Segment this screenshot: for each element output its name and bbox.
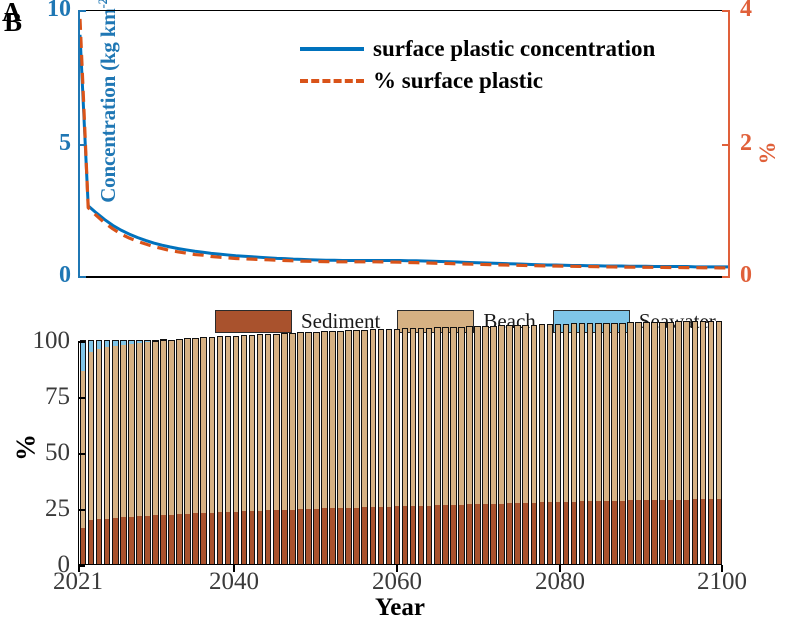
bar-segment-beach <box>386 329 393 507</box>
panel-b-yticklabel-75: 75 <box>8 383 70 411</box>
stacked-bar <box>659 340 666 564</box>
legend-line-solid-icon <box>300 47 364 51</box>
bar-segment-sediment <box>635 500 642 564</box>
bar-segment-sediment <box>297 509 304 564</box>
stacked-bars-container <box>79 341 721 564</box>
stacked-bar <box>386 340 393 564</box>
bar-segment-seawater <box>128 340 135 344</box>
stacked-bar <box>120 340 127 564</box>
bar-segment-beach <box>361 330 368 508</box>
bar-segment-sediment <box>643 500 650 564</box>
stacked-bar <box>611 340 618 564</box>
stacked-bar <box>522 340 529 564</box>
bar-segment-beach <box>700 321 707 499</box>
bar-segment-beach <box>370 329 377 507</box>
bar-segment-beach <box>184 338 191 513</box>
bar-segment-sediment <box>152 515 159 564</box>
bar-segment-beach <box>708 321 715 499</box>
stacked-bar <box>474 340 481 564</box>
stacked-bar <box>184 340 191 564</box>
stacked-bar <box>434 340 441 564</box>
bar-segment-sediment <box>410 506 417 564</box>
stacked-bar <box>96 340 103 564</box>
bar-segment-sediment <box>651 500 658 564</box>
stacked-bar <box>378 340 385 564</box>
stacked-bar <box>418 340 425 564</box>
stacked-bar <box>233 340 240 564</box>
stacked-bar <box>450 340 457 564</box>
bar-segment-beach <box>273 334 280 511</box>
bar-segment-beach <box>482 326 489 504</box>
bar-segment-sediment <box>353 508 360 564</box>
bar-segment-sediment <box>192 513 199 564</box>
stacked-bar <box>587 340 594 564</box>
stacked-bar <box>571 340 578 564</box>
stacked-bar <box>353 340 360 564</box>
bar-segment-beach <box>514 325 521 503</box>
bar-segment-beach <box>522 325 529 503</box>
stacked-bar <box>716 340 723 564</box>
stacked-bar <box>136 340 143 564</box>
bar-segment-beach <box>675 321 682 499</box>
bar-segment-sediment <box>96 519 103 564</box>
bar-segment-beach <box>345 330 352 507</box>
bar-segment-sediment <box>329 508 336 564</box>
bar-segment-seawater <box>88 340 95 352</box>
stacked-bar <box>321 340 328 564</box>
bar-segment-sediment <box>466 504 473 564</box>
bar-segment-beach <box>378 329 385 507</box>
bar-segment-sediment <box>603 501 610 564</box>
stacked-bar <box>563 340 570 564</box>
bar-segment-beach <box>80 371 87 528</box>
bar-segment-beach <box>321 331 328 508</box>
stacked-bar <box>168 340 175 564</box>
stacked-bar <box>345 340 352 564</box>
stacked-bar <box>80 340 87 564</box>
bar-segment-seawater <box>144 340 151 342</box>
bar-segment-beach <box>563 324 570 502</box>
bar-segment-beach <box>450 327 457 505</box>
bar-segment-seawater <box>96 340 103 349</box>
stacked-bar <box>619 340 626 564</box>
bar-segment-beach <box>667 322 674 500</box>
bar-segment-beach <box>490 326 497 504</box>
bar-segment-sediment <box>257 511 264 564</box>
bar-segment-beach <box>659 322 666 500</box>
bar-segment-sediment <box>716 499 723 564</box>
bar-segment-sediment <box>667 500 674 564</box>
stacked-bar <box>305 340 312 564</box>
panel-a-legend: surface plastic concentration % surface … <box>300 33 655 97</box>
bar-segment-beach <box>144 342 151 516</box>
panel-b-ytick-50 <box>78 453 85 455</box>
stacked-bar <box>700 340 707 564</box>
bar-segment-beach <box>547 324 554 502</box>
stacked-bar <box>635 340 642 564</box>
bar-segment-sediment <box>209 513 216 564</box>
stacked-bar <box>217 340 224 564</box>
bar-segment-sediment <box>386 507 393 564</box>
bar-segment-beach <box>88 352 95 520</box>
bar-segment-sediment <box>611 501 618 564</box>
bar-segment-sediment <box>241 511 248 564</box>
stacked-bar <box>595 340 602 564</box>
stacked-bar <box>200 340 207 564</box>
bar-segment-sediment <box>233 512 240 564</box>
bar-segment-beach <box>305 332 312 509</box>
stacked-bar <box>442 340 449 564</box>
stacked-bar <box>555 340 562 564</box>
panel-b-label: B <box>4 7 22 38</box>
bar-segment-beach <box>587 323 594 501</box>
bar-segment-beach <box>635 322 642 500</box>
bar-segment-beach <box>571 323 578 501</box>
panel-b-yticklabel-25: 25 <box>8 495 70 523</box>
bar-segment-beach <box>531 325 538 503</box>
bar-segment-sediment <box>458 505 465 564</box>
bar-segment-beach <box>716 321 723 499</box>
stacked-bar <box>651 340 658 564</box>
bar-segment-sediment <box>128 517 135 564</box>
panel-b-ytick-100 <box>78 341 85 343</box>
panel-b-xticklabel-2021: 2021 <box>33 568 123 596</box>
stacked-bar <box>539 340 546 564</box>
stacked-bar <box>329 340 336 564</box>
bar-segment-beach <box>418 328 425 506</box>
bar-segment-sediment <box>426 506 433 564</box>
stacked-bar <box>675 340 682 564</box>
bar-segment-beach <box>643 322 650 500</box>
panel-a-ytick-10 <box>78 10 86 12</box>
stacked-bar <box>394 340 401 564</box>
bar-segment-beach <box>297 332 304 509</box>
bar-segment-beach <box>112 346 119 518</box>
bar-segment-beach <box>627 322 634 500</box>
bar-segment-sediment <box>514 503 521 564</box>
stacked-bar <box>257 340 264 564</box>
bar-segment-beach <box>209 337 216 513</box>
bar-segment-beach <box>136 343 143 516</box>
bar-segment-beach <box>160 340 167 515</box>
bar-segment-sediment <box>619 501 626 564</box>
stacked-bar <box>176 340 183 564</box>
panel-a-y2ticklabel-4: 4 <box>740 0 752 23</box>
stacked-bar <box>128 340 135 564</box>
stacked-bar <box>370 340 377 564</box>
bar-segment-beach <box>498 325 505 503</box>
stacked-bar <box>209 340 216 564</box>
bar-segment-seawater <box>160 339 167 340</box>
bar-segment-beach <box>506 325 513 503</box>
bar-segment-sediment <box>579 501 586 564</box>
bar-segment-beach <box>555 324 562 502</box>
panel-a-yticklabel-10: 10 <box>33 0 71 23</box>
stacked-bar <box>490 340 497 564</box>
bar-segment-sediment <box>176 514 183 564</box>
bar-segment-sediment <box>144 516 151 564</box>
stacked-bar <box>603 340 610 564</box>
bar-segment-beach <box>442 327 449 505</box>
bar-segment-sediment <box>337 508 344 564</box>
stacked-bar <box>289 340 296 564</box>
stacked-bar <box>547 340 554 564</box>
bar-segment-sediment <box>168 515 175 565</box>
panel-b-plot-area <box>78 341 722 565</box>
panel-a-right-axis-label: % <box>755 133 781 173</box>
bar-segment-sediment <box>225 512 232 564</box>
bar-segment-beach <box>410 328 417 506</box>
stacked-bar <box>361 340 368 564</box>
stacked-bar <box>144 340 151 564</box>
bar-segment-sediment <box>498 504 505 564</box>
bar-segment-sediment <box>345 508 352 564</box>
bar-segment-beach <box>152 341 159 515</box>
stacked-bar <box>627 340 634 564</box>
panel-a-y2tick-2 <box>722 144 730 146</box>
bar-segment-sediment <box>394 506 401 564</box>
bar-segment-sediment <box>683 500 690 565</box>
legend-item-percent: % surface plastic <box>300 65 655 97</box>
bar-segment-sediment <box>547 502 554 564</box>
bar-segment-sediment <box>506 503 513 564</box>
bar-segment-beach <box>458 327 465 505</box>
bar-segment-sediment <box>627 500 634 564</box>
bar-segment-beach <box>579 323 586 501</box>
bar-segment-seawater <box>120 340 127 345</box>
stacked-bar <box>249 340 256 564</box>
panel-b-xticklabel-2040: 2040 <box>189 568 279 596</box>
bar-segment-beach <box>120 345 127 517</box>
panel-a-yticklabel-0: 0 <box>33 262 71 289</box>
bar-segment-sediment <box>700 499 707 564</box>
stacked-bar <box>579 340 586 564</box>
bar-segment-sediment <box>563 502 570 564</box>
bar-segment-beach <box>603 323 610 501</box>
bar-segment-sediment <box>531 503 538 564</box>
stacked-bar <box>273 340 280 564</box>
bar-segment-sediment <box>281 510 288 564</box>
bar-segment-sediment <box>539 502 546 564</box>
bar-segment-beach <box>611 323 618 501</box>
bar-segment-sediment <box>104 519 111 564</box>
bar-segment-sediment <box>587 501 594 564</box>
bar-segment-seawater <box>152 340 159 341</box>
panel-a-yticklabel-5: 5 <box>33 130 71 157</box>
bar-segment-sediment <box>289 510 296 564</box>
bar-segment-beach <box>402 328 409 506</box>
stacked-bar <box>160 340 167 564</box>
bar-segment-sediment <box>708 499 715 564</box>
bar-segment-beach <box>265 334 272 511</box>
stacked-bar <box>482 340 489 564</box>
bar-segment-sediment <box>474 504 481 564</box>
panel-a-y2ticklabel-2: 2 <box>740 130 752 157</box>
stacked-bar <box>337 340 344 564</box>
bar-segment-beach <box>217 336 224 512</box>
bar-segment-beach <box>337 331 344 508</box>
panel-a-ytick-0 <box>78 276 86 278</box>
panel-b-yticklabel-50: 50 <box>8 439 70 467</box>
bar-segment-sediment <box>265 510 272 564</box>
bar-segment-sediment <box>692 499 699 564</box>
bar-segment-sediment <box>313 509 320 564</box>
bar-segment-beach <box>249 335 256 511</box>
stacked-bar <box>265 340 272 564</box>
bar-segment-beach <box>200 337 207 513</box>
bar-segment-sediment <box>482 504 489 564</box>
panel-b-xticklabel-2080: 2080 <box>515 568 605 596</box>
figure-canvas: A B Concentration (kg km-2) % 10 5 0 4 2… <box>0 0 800 626</box>
bar-segment-sediment <box>273 510 280 564</box>
bar-segment-sediment <box>595 501 602 564</box>
stacked-bar <box>225 340 232 564</box>
bar-segment-beach <box>225 336 232 512</box>
bar-segment-beach <box>192 338 199 513</box>
bar-segment-beach <box>651 322 658 500</box>
bar-segment-beach <box>619 323 626 501</box>
panel-b-xticklabel-2060: 2060 <box>352 568 442 596</box>
bar-segment-sediment <box>418 506 425 564</box>
bar-segment-sediment <box>160 515 167 564</box>
stacked-bar <box>88 340 95 564</box>
panel-b-x-axis-label: Year <box>0 594 800 622</box>
stacked-bar <box>192 340 199 564</box>
stacked-bar <box>410 340 417 564</box>
bar-segment-beach <box>394 329 401 507</box>
panel-a-y2tick-0 <box>722 276 730 278</box>
panel-b-yticklabel-100: 100 <box>8 327 70 355</box>
legend-label-percent: % surface plastic <box>373 68 543 94</box>
legend-swatch-sediment <box>215 310 292 333</box>
bar-segment-beach <box>692 321 699 499</box>
bar-segment-sediment <box>571 502 578 565</box>
bar-segment-sediment <box>361 507 368 564</box>
bar-segment-sediment <box>490 504 497 564</box>
stacked-bar <box>297 340 304 564</box>
stacked-bar <box>426 340 433 564</box>
bar-segment-beach <box>289 333 296 510</box>
stacked-bar <box>667 340 674 564</box>
bar-segment-sediment <box>370 507 377 564</box>
bar-segment-beach <box>466 326 473 504</box>
bar-segment-beach <box>426 328 433 506</box>
bar-segment-sediment <box>184 514 191 564</box>
bar-segment-sediment <box>321 508 328 564</box>
bar-segment-beach <box>539 324 546 502</box>
bar-segment-sediment <box>675 500 682 565</box>
panel-a-ytick-5 <box>78 144 86 146</box>
bar-segment-sediment <box>442 505 449 564</box>
bar-segment-sediment <box>522 503 529 564</box>
bar-segment-beach <box>313 332 320 509</box>
panel-a-y2ticklabel-0: 0 <box>740 262 752 289</box>
bar-segment-sediment <box>659 500 666 564</box>
bar-segment-beach <box>96 349 103 519</box>
legend-line-dashed-icon <box>300 79 364 83</box>
bar-segment-seawater <box>104 340 111 347</box>
panel-a-y2tick-4 <box>722 10 730 12</box>
bar-segment-beach <box>168 340 175 515</box>
bar-segment-sediment <box>217 512 224 564</box>
stacked-bar <box>152 340 159 564</box>
stacked-bar <box>458 340 465 564</box>
bar-segment-beach <box>353 330 360 507</box>
stacked-bar <box>708 340 715 564</box>
bar-segment-seawater <box>136 340 143 343</box>
bar-segment-sediment <box>450 505 457 564</box>
bar-segment-beach <box>329 331 336 508</box>
stacked-bar <box>466 340 473 564</box>
bar-segment-sediment <box>249 511 256 564</box>
bar-segment-seawater <box>80 340 87 371</box>
stacked-bar <box>402 340 409 564</box>
bar-segment-sediment <box>80 528 87 564</box>
bar-segment-beach <box>595 323 602 501</box>
bar-segment-sediment <box>305 509 312 564</box>
bar-segment-sediment <box>378 507 385 564</box>
stacked-bar <box>313 340 320 564</box>
bar-segment-seawater <box>112 340 119 346</box>
bar-segment-beach <box>128 344 135 517</box>
bar-segment-beach <box>233 336 240 512</box>
bar-segment-beach <box>474 326 481 504</box>
panel-b-ytick-75 <box>78 397 85 399</box>
stacked-bar <box>514 340 521 564</box>
bar-segment-beach <box>257 334 264 511</box>
bar-segment-sediment <box>434 505 441 564</box>
bar-segment-sediment <box>88 520 95 564</box>
stacked-bar <box>531 340 538 564</box>
bar-segment-beach <box>176 339 183 514</box>
stacked-bar <box>498 340 505 564</box>
stacked-bar <box>506 340 513 564</box>
stacked-bar <box>241 340 248 564</box>
bar-segment-sediment <box>402 506 409 564</box>
bar-segment-beach <box>683 321 690 499</box>
stacked-bar <box>683 340 690 564</box>
bar-segment-beach <box>281 333 288 510</box>
stacked-bar <box>281 340 288 564</box>
panel-b-ytick-25 <box>78 509 85 511</box>
bar-segment-sediment <box>555 502 562 564</box>
bar-segment-sediment <box>112 518 119 564</box>
panel-b-xticklabel-2100: 2100 <box>677 568 767 596</box>
bar-segment-sediment <box>136 516 143 564</box>
stacked-bar <box>643 340 650 564</box>
bar-segment-beach <box>434 327 441 505</box>
stacked-bar <box>104 340 111 564</box>
legend-label-concentration: surface plastic concentration <box>373 36 655 62</box>
bar-segment-beach <box>241 335 248 511</box>
bar-segment-beach <box>104 347 111 518</box>
bar-segment-sediment <box>120 517 127 564</box>
stacked-bar <box>692 340 699 564</box>
stacked-bar <box>112 340 119 564</box>
legend-item-concentration: surface plastic concentration <box>300 33 655 65</box>
bar-segment-sediment <box>200 513 207 564</box>
